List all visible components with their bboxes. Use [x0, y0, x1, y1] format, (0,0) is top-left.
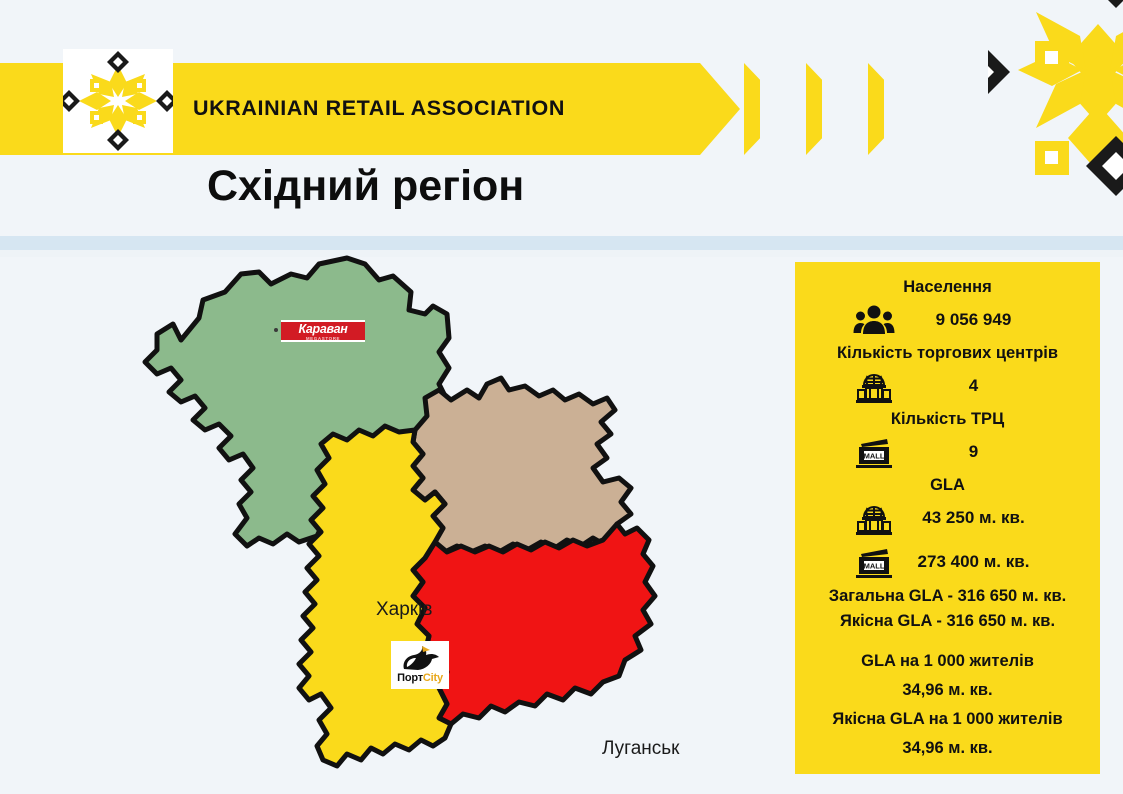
gla-centers-row: 43 250 м. кв.: [805, 496, 1090, 540]
map-label-luhansk: Луганськ: [602, 738, 679, 760]
karavan-logo-sub: MEGASTORE: [306, 336, 340, 342]
gla-label: GLA: [805, 474, 1090, 496]
portcity-logo-city: City: [423, 672, 443, 684]
domed-building-icon: [853, 366, 895, 406]
chevron-icon-2-cut: [822, 63, 866, 155]
svg-text:MALL: MALL: [864, 452, 885, 461]
population-value: 9 056 949: [805, 310, 1090, 330]
swan-icon: [398, 642, 442, 672]
page-title: Східний регіон: [207, 162, 524, 211]
trc-value: 9: [805, 442, 1090, 462]
map-label-kharkiv: Харків: [376, 599, 432, 621]
header-divider-band: [0, 236, 1123, 250]
embroidery-star-icon: [63, 49, 173, 153]
shopping-centers-row: 4: [805, 364, 1090, 408]
mall-sign-icon: MALL: [853, 432, 895, 472]
shopping-centers-value: 4: [805, 376, 1090, 396]
region-map: Харків Луганськ Донецьк Маріуполь: [95, 252, 755, 794]
chevron-icon-1-cut: [760, 63, 804, 155]
header-band: UKRAINIAN RETAIL ASSOCIATION Східний рег…: [0, 0, 1123, 237]
gla-centers-value: 43 250 м. кв.: [805, 508, 1090, 528]
trc-label: Кількість ТРЦ: [805, 408, 1090, 430]
trc-row: MALL 9: [805, 430, 1090, 474]
statistics-panel: Населення 9 056 949 Кількість торгових ц…: [795, 262, 1100, 774]
header-bar-arrow-point: [700, 63, 740, 155]
gla-trc-value: 273 400 м. кв.: [805, 552, 1090, 572]
quality-gla-line: Якісна GLA - 316 650 м. кв.: [805, 609, 1090, 634]
spacer: [805, 634, 1090, 647]
shopping-centers-label: Кількість торгових центрів: [805, 342, 1090, 364]
svg-text:MALL: MALL: [864, 562, 885, 571]
infographic-page: UKRAINIAN RETAIL ASSOCIATION Східний рег…: [0, 0, 1123, 794]
map-marker-kharkiv: [274, 328, 278, 332]
karavan-logo-name: Караван: [298, 323, 347, 336]
association-title: UKRAINIAN RETAIL ASSOCIATION: [193, 96, 565, 121]
quality-gla-per-1000-label: Якісна GLA на 1 000 жителів: [805, 705, 1090, 734]
ura-logo: [63, 49, 173, 153]
population-row: 9 056 949: [805, 298, 1090, 342]
quality-gla-per-1000-value: 34,96 м. кв.: [805, 734, 1090, 763]
embroidery-ornament-right-icon: [988, 0, 1123, 258]
people-group-icon: [853, 300, 895, 340]
portcity-logo-text: ПортCity: [397, 672, 443, 684]
total-gla-line: Загальна GLA - 316 650 м. кв.: [805, 584, 1090, 609]
population-label: Населення: [805, 276, 1090, 298]
domed-building-icon-2: [853, 498, 895, 538]
map-region-luhansk[interactable]: [413, 378, 631, 552]
map-svg: [95, 252, 755, 794]
gla-per-1000-label: GLA на 1 000 жителів: [805, 647, 1090, 676]
mall-sign-icon-2: MALL: [853, 542, 895, 582]
gla-per-1000-value: 34,96 м. кв.: [805, 676, 1090, 705]
portcity-logo: ПортCity: [391, 641, 449, 689]
chevron-icon-3-cut: [884, 63, 928, 155]
karavan-logo: Караван MEGASTORE: [281, 320, 365, 342]
map-region-occupied[interactable]: [413, 524, 655, 724]
portcity-logo-port: Порт: [397, 672, 423, 684]
gla-trc-row: MALL 273 400 м. кв.: [805, 540, 1090, 584]
